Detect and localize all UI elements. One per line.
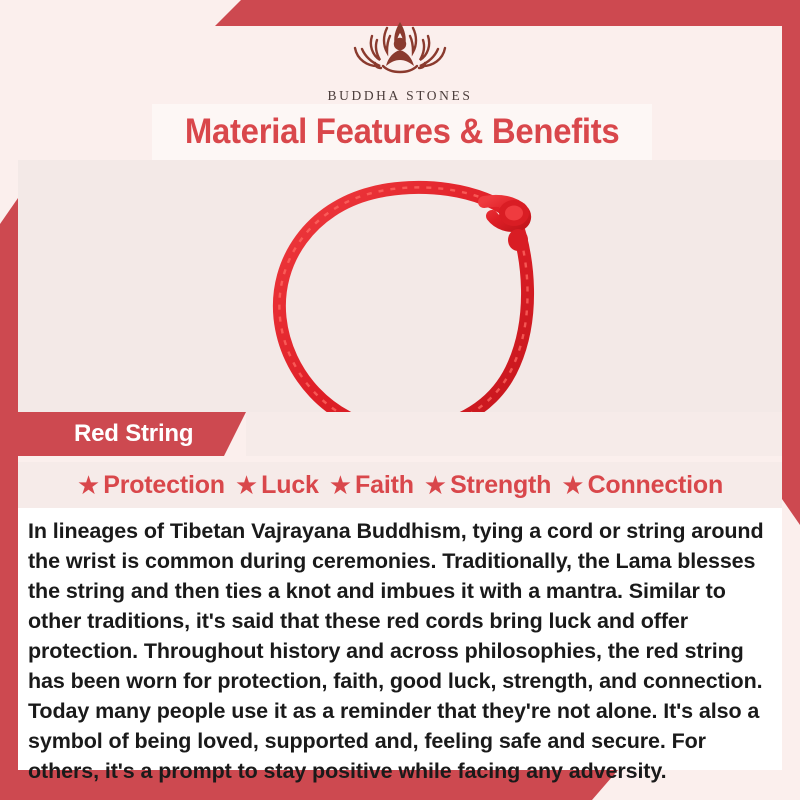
benefit-item-connection: ★ Connection [556,471,728,500]
lotus-meditation-figure-icon [325,14,475,86]
benefit-item-protection: ★ Protection [72,471,230,500]
ribbon-filler [246,412,782,456]
benefit-label: Luck [261,471,319,500]
brand-name: BUDDHA STONES [328,88,473,104]
benefits-row: ★ Protection ★ Luck ★ Faith ★ Strength ★… [18,462,782,508]
star-icon: ★ [235,472,258,498]
benefit-item-strength: ★ Strength [419,471,556,500]
material-name: Red String [74,420,193,448]
benefit-item-faith: ★ Faith [324,471,419,500]
title-band: Material Features & Benefits [152,104,652,160]
star-icon: ★ [424,472,447,498]
star-icon: ★ [77,472,100,498]
infographic-page: BUDDHA STONES Material Features & Benefi… [0,0,800,800]
description-panel: In lineages of Tibetan Vajrayana Buddhis… [18,508,782,770]
brand-logo: BUDDHA STONES [0,14,800,104]
benefit-label: Faith [355,471,414,500]
red-string-bracelet-image [268,168,572,444]
benefit-item-luck: ★ Luck [230,471,324,500]
benefit-label: Protection [103,471,225,500]
description-paragraph: In lineages of Tibetan Vajrayana Buddhis… [28,516,768,786]
page-title: Material Features & Benefits [185,112,620,152]
frame-accent-left [0,198,18,782]
star-icon: ★ [561,472,584,498]
star-icon: ★ [329,472,352,498]
benefit-label: Strength [450,471,551,500]
benefit-label: Connection [588,471,724,500]
material-ribbon: Red String [18,412,246,456]
